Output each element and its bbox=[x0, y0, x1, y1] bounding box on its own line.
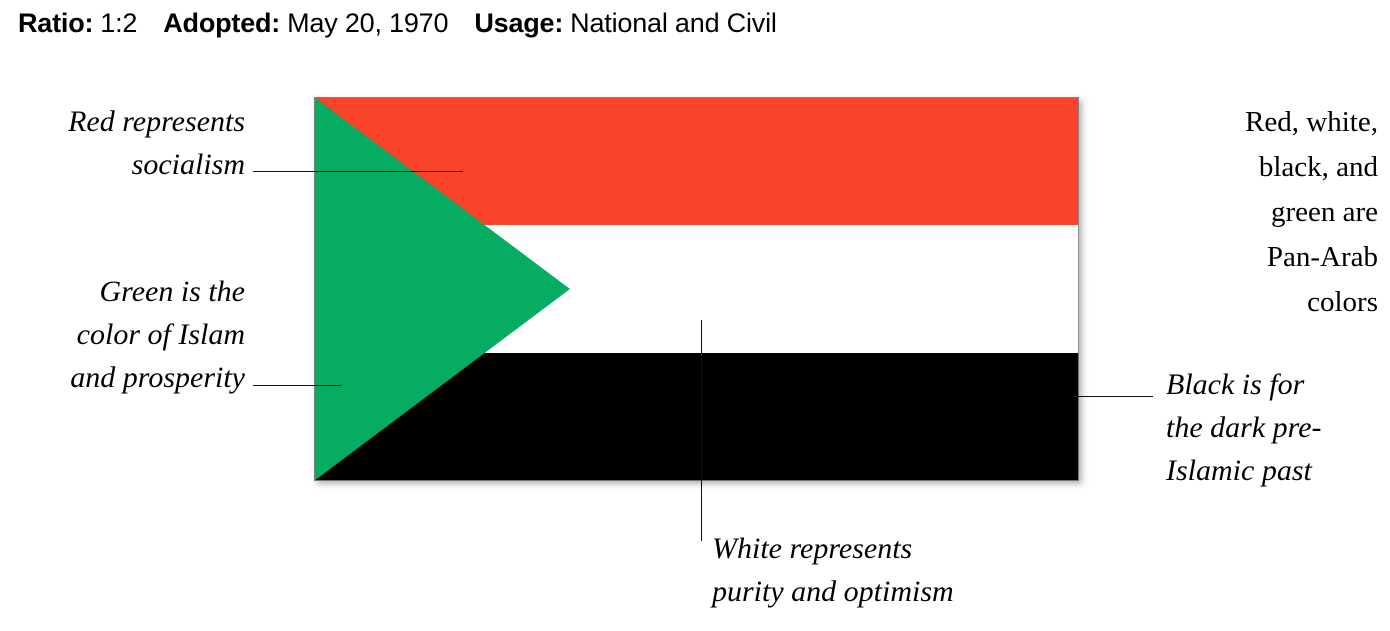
usage-value: National and Civil bbox=[570, 2, 777, 44]
callout-black: Black is for the dark pre- Islamic past bbox=[1166, 363, 1390, 492]
callout-white-line1: White represents bbox=[712, 527, 1032, 570]
callout-pan-arab-colors: Red, white, black, and green are Pan-Ara… bbox=[1130, 100, 1378, 325]
callout-green-line3: and prosperity bbox=[0, 356, 245, 399]
ratio-value: 1:2 bbox=[100, 2, 137, 44]
green-triangle bbox=[314, 97, 570, 481]
callout-panarab-line4: Pan-Arab bbox=[1130, 235, 1378, 280]
sudan-flag-image bbox=[314, 97, 1079, 481]
leader-line-white bbox=[701, 320, 702, 541]
callout-panarab-line2: black, and bbox=[1130, 145, 1378, 190]
leader-line-green bbox=[253, 385, 341, 386]
callout-green-line1: Green is the bbox=[0, 270, 245, 313]
leader-line-black bbox=[1070, 396, 1153, 397]
callout-red-line2: socialism bbox=[0, 143, 245, 186]
callout-black-line3: Islamic past bbox=[1166, 449, 1390, 492]
callout-green-line2: color of Islam bbox=[0, 313, 245, 356]
adopted-value: May 20, 1970 bbox=[287, 2, 448, 44]
callout-white: White represents purity and optimism bbox=[712, 527, 1032, 613]
callout-panarab-line3: green are bbox=[1130, 190, 1378, 235]
adopted-label: Adopted: bbox=[163, 2, 280, 44]
callout-white-line2: purity and optimism bbox=[712, 570, 1032, 613]
usage-label: Usage: bbox=[474, 2, 563, 44]
callout-black-line2: the dark pre- bbox=[1166, 406, 1390, 449]
leader-line-red bbox=[253, 171, 463, 172]
callout-red-line1: Red represents bbox=[0, 100, 245, 143]
flag-figure bbox=[314, 97, 1079, 481]
ratio-label: Ratio: bbox=[18, 2, 93, 44]
callout-panarab-line1: Red, white, bbox=[1130, 100, 1378, 145]
flag-metadata-header: Ratio: 1:2 Adopted: May 20, 1970 Usage: … bbox=[18, 2, 777, 44]
callout-black-line1: Black is for bbox=[1166, 363, 1390, 406]
callout-green: Green is the color of Islam and prosperi… bbox=[0, 270, 245, 399]
callout-red: Red represents socialism bbox=[0, 100, 245, 186]
callout-panarab-line5: colors bbox=[1130, 280, 1378, 325]
